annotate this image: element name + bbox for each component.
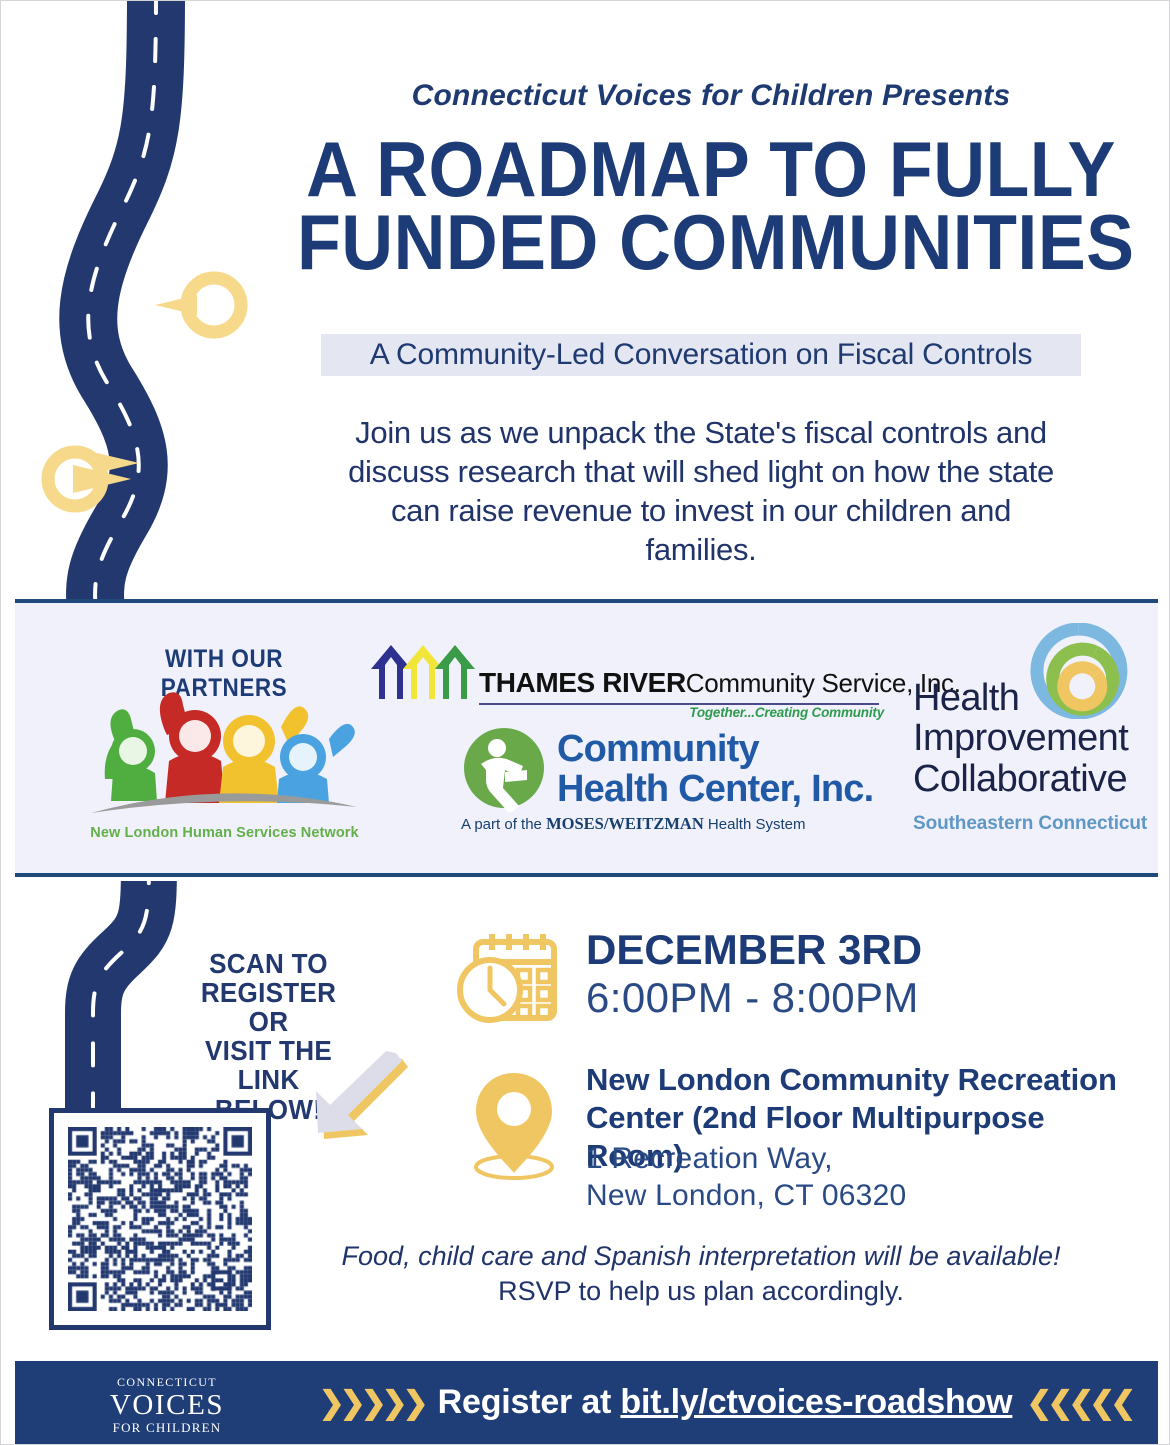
logo-line-2: VOICES bbox=[87, 1390, 247, 1420]
register-cta-text[interactable]: Register at bit.ly/ctvoices-roadshow bbox=[438, 1383, 1013, 1422]
flyer-page: Connecticut Voices for Children Presents… bbox=[0, 0, 1170, 1445]
scan-line-2: REGISTER OR bbox=[182, 978, 354, 1036]
title-line-1: A ROADMAP TO FULLY bbox=[297, 133, 1125, 206]
logo-line-3: FOR CHILDREN bbox=[87, 1420, 247, 1436]
partner-name-new-london-human-services-network: New London Human Services Network bbox=[77, 825, 372, 841]
partner-logo-community-health-center: Community Health Center, Inc. A part of … bbox=[461, 728, 801, 840]
chevrons-left-icon: ❯❯❯❯❯ bbox=[319, 1385, 424, 1421]
intro-paragraph: Join us as we unpack the State's fiscal … bbox=[341, 413, 1061, 569]
title-line-2: FUNDED COMMUNITIES bbox=[297, 206, 1125, 279]
hic-name-line-2: Improvement bbox=[913, 718, 1128, 758]
chc-subline-pre: A part of the bbox=[461, 816, 546, 833]
qr-code-box[interactable] bbox=[49, 1108, 271, 1330]
venue-line-1: New London Community Recreation bbox=[586, 1061, 1146, 1099]
cta-link[interactable]: bit.ly/ctvoices-roadshow bbox=[620, 1383, 1012, 1421]
logo-line-1: CONNECTICUT bbox=[87, 1375, 247, 1390]
note-line-1: Food, child care and Spanish interpretat… bbox=[251, 1239, 1151, 1274]
chc-subline-post: Health System bbox=[704, 816, 806, 833]
ct-voices-logo: CONNECTICUT VOICES FOR CHILDREN bbox=[87, 1375, 247, 1436]
chevrons-right-icon: ❮❮❮❮❮ bbox=[1026, 1385, 1131, 1421]
hic-name-line-3: Collaborative bbox=[913, 759, 1128, 799]
subtitle-text: A Community-Led Conversation on Fiscal C… bbox=[370, 338, 1033, 372]
subtitle-band: A Community-Led Conversation on Fiscal C… bbox=[321, 334, 1081, 376]
partner-name-thames-river: THAMES RIVERCommunity Service, Inc. bbox=[479, 667, 961, 699]
event-date: DECEMBER 3RD bbox=[586, 926, 922, 974]
event-time: 6:00PM - 8:00PM bbox=[586, 974, 919, 1022]
presenter-line: Connecticut Voices for Children Presents bbox=[271, 79, 1151, 113]
address-line-2: New London, CT 06320 bbox=[586, 1178, 1146, 1215]
qr-code-image[interactable] bbox=[68, 1127, 252, 1311]
chc-name-line-2: Health Center, Inc. bbox=[557, 770, 873, 810]
map-pin-icon bbox=[466, 1069, 562, 1181]
chc-person-mark-icon bbox=[461, 728, 547, 812]
event-address: 1 Recreation Way, New London, CT 06320 bbox=[586, 1141, 1146, 1214]
calendar-clock-icon bbox=[456, 928, 566, 1028]
down-left-arrow-icon bbox=[296, 1041, 416, 1151]
partners-band: WITH OUR PARTNERS bbox=[15, 599, 1158, 877]
hic-subline: Southeastern Connecticut bbox=[913, 813, 1147, 835]
page-title: A ROADMAP TO FULLY FUNDED COMMUNITIES bbox=[261, 133, 1161, 278]
chc-name-line-1: Community bbox=[557, 730, 873, 770]
chc-subline-bold: MOSES/WEITZMAN bbox=[546, 814, 704, 833]
note-line-2: RSVP to help us plan accordingly. bbox=[251, 1274, 1151, 1309]
header-zone: Connecticut Voices for Children Presents… bbox=[1, 1, 1170, 599]
partner-logo-health-improvement-collaborative: Health Improvement Collaborative Southea… bbox=[913, 623, 1135, 851]
register-cta[interactable]: ❯❯❯❯❯ Register at bit.ly/ctvoices-roadsh… bbox=[345, 1383, 1105, 1422]
partner-logo-thames-river: THAMES RIVERCommunity Service, Inc. Toge… bbox=[367, 629, 892, 719]
chc-name: Community Health Center, Inc. bbox=[557, 730, 873, 809]
footer-bar: CONNECTICUT VOICES FOR CHILDREN ❯❯❯❯❯ Re… bbox=[15, 1361, 1158, 1445]
event-note: Food, child care and Spanish interpretat… bbox=[251, 1239, 1151, 1308]
scan-line-1: SCAN TO bbox=[182, 949, 354, 978]
three-houses-icon bbox=[367, 629, 477, 701]
thames-name-bold: THAMES RIVER bbox=[479, 667, 686, 698]
thames-tagline: Together...Creating Community bbox=[599, 705, 884, 720]
chc-subline: A part of the MOSES/WEITZMAN Health Syst… bbox=[461, 814, 801, 834]
people-figures-icon bbox=[77, 681, 372, 821]
hic-name: Health Improvement Collaborative bbox=[913, 678, 1128, 799]
partner-logo-new-london-human-services-network: New London Human Services Network bbox=[77, 681, 372, 841]
hic-name-line-1: Health bbox=[913, 678, 1128, 718]
address-line-1: 1 Recreation Way, bbox=[586, 1141, 1146, 1178]
cta-prefix: Register at bbox=[438, 1383, 621, 1421]
